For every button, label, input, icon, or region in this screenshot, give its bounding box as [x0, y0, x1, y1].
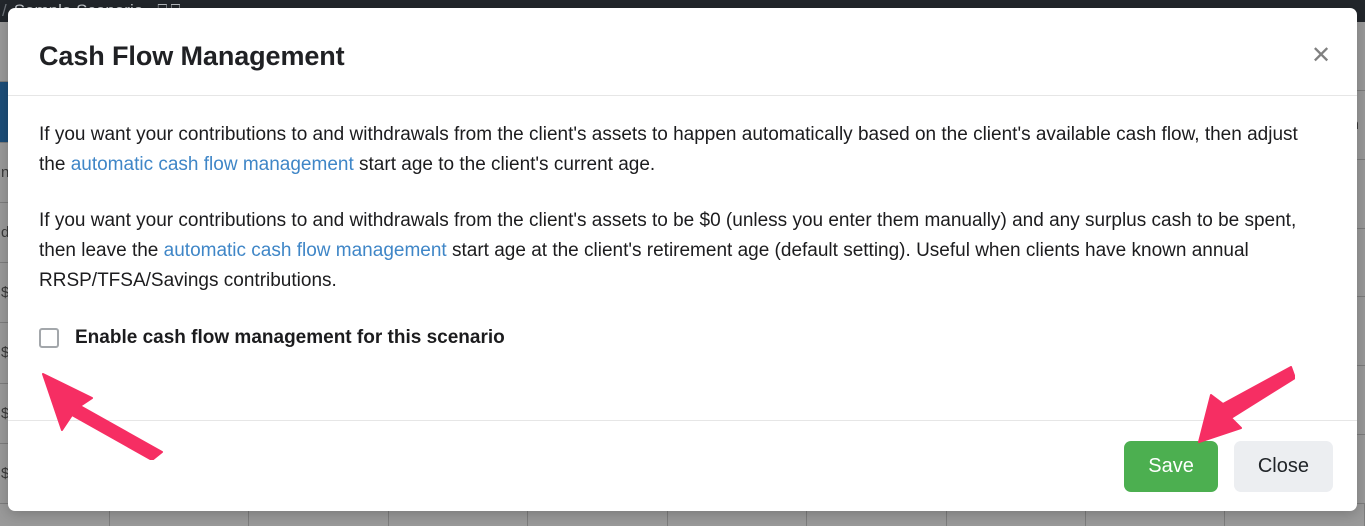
- dialog-footer: Save Close: [8, 420, 1357, 511]
- paragraph-retirement-start-age: If you want your contributions to and wi…: [39, 206, 1326, 296]
- automatic-cash-flow-management-link[interactable]: automatic cash flow management: [71, 154, 354, 175]
- cancel-button[interactable]: Close: [1234, 441, 1333, 492]
- cash-flow-management-dialog: Cash Flow Management ✕ If you want your …: [8, 8, 1357, 511]
- paragraph-1-text-after: start age to the client's current age.: [354, 154, 655, 175]
- dialog-body: If you want your contributions to and wi…: [8, 96, 1357, 412]
- enable-cash-flow-checkbox[interactable]: [39, 328, 59, 348]
- page-title: Cash Flow Management: [39, 41, 345, 72]
- automatic-cash-flow-management-link-2[interactable]: automatic cash flow management: [164, 240, 447, 261]
- save-button[interactable]: Save: [1124, 441, 1218, 492]
- paragraph-automatic-start-age: If you want your contributions to and wi…: [39, 120, 1326, 180]
- breadcrumb-separator: /: [2, 1, 7, 20]
- dialog-header: Cash Flow Management ✕: [8, 8, 1357, 96]
- enable-cash-flow-checkbox-label[interactable]: Enable cash flow management for this sce…: [75, 327, 505, 349]
- enable-cash-flow-checkbox-row: Enable cash flow management for this sce…: [39, 327, 1326, 349]
- close-icon[interactable]: ✕: [1306, 41, 1336, 71]
